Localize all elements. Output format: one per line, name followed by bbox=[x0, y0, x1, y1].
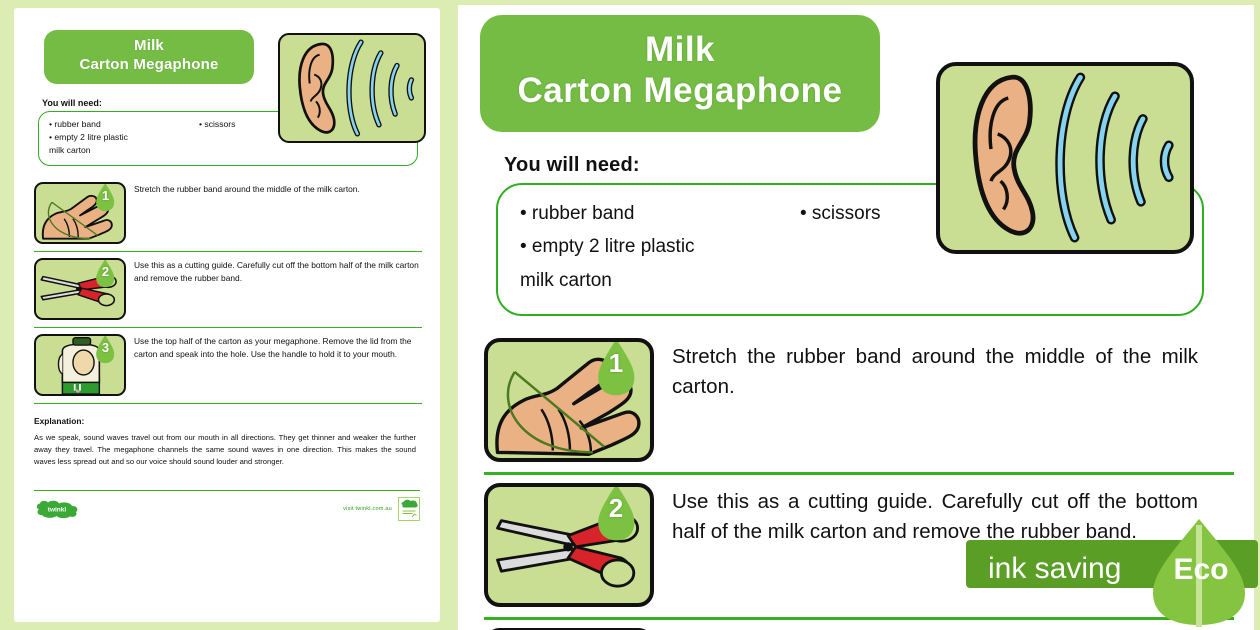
step-number-badge: 1 bbox=[92, 182, 118, 212]
step-number-badge: 1 bbox=[592, 338, 641, 398]
milk-carton-icon: 3 bbox=[34, 334, 126, 396]
list-item: • rubber band bbox=[520, 197, 800, 231]
explanation-heading: Explanation: bbox=[34, 416, 426, 426]
screenshot-root: Milk Carton Megaphone You will need: • r… bbox=[0, 0, 1260, 630]
twinkl-logo[interactable]: twinkl bbox=[34, 499, 80, 519]
list-item: • empty 2 litre plastic bbox=[520, 230, 800, 264]
step-number-label: 2 bbox=[92, 258, 118, 288]
list-item: • rubber band bbox=[49, 118, 199, 131]
thumbnail-title-banner: Milk Carton Megaphone bbox=[44, 30, 254, 84]
page-title-line-1: Milk bbox=[490, 29, 870, 70]
step-text: Use this as a cutting guide. Carefully c… bbox=[134, 258, 422, 284]
eco-badge-word: Eco bbox=[1166, 553, 1236, 587]
page-title-line-2: Carton Megaphone bbox=[490, 70, 870, 111]
step-number-badge: 3 bbox=[92, 334, 118, 364]
hand-rubber-band-icon: 1 bbox=[484, 338, 654, 462]
thumbnail-preview-pane[interactable]: Milk Carton Megaphone You will need: • r… bbox=[0, 0, 450, 630]
ear-sound-waves-icon bbox=[278, 33, 426, 143]
step-number-label: 1 bbox=[592, 338, 641, 398]
thumbnail-page[interactable]: Milk Carton Megaphone You will need: • r… bbox=[14, 8, 440, 622]
step-number-label: 3 bbox=[92, 334, 118, 364]
footer-divider bbox=[34, 490, 420, 491]
list-item: 2 Use this as a cutting guide. Carefully… bbox=[34, 252, 422, 328]
eco-badge-label: ink saving bbox=[988, 552, 1121, 586]
scissors-icon: 2 bbox=[34, 258, 126, 320]
twinkl-logo-text: twinkl bbox=[48, 506, 67, 513]
visit-url-text[interactable]: visit twinkl.com.au bbox=[343, 506, 392, 512]
list-item: 1 Stretch the rubber band around the mid… bbox=[34, 176, 422, 252]
step-number-label: 2 bbox=[592, 483, 641, 543]
thumbnail-materials-column-2: • scissors bbox=[199, 118, 235, 131]
eco-ink-saving-badge[interactable]: ink saving Eco bbox=[966, 533, 1260, 595]
step-text: Use the top half of the carton as your m… bbox=[134, 334, 422, 360]
ear-sound-waves-icon bbox=[936, 62, 1194, 254]
list-item: 3 Use the top half of the carton as your… bbox=[484, 620, 1234, 630]
list-item: milk carton bbox=[520, 264, 800, 298]
thumbnail-steps-list: 1 Stretch the rubber band around the mid… bbox=[34, 176, 422, 404]
step-number-badge: 2 bbox=[592, 483, 641, 543]
thumbnail-title-line-1: Milk bbox=[50, 37, 248, 56]
list-item: 1 Stretch the rubber band around the mid… bbox=[484, 330, 1234, 475]
list-item: milk carton bbox=[49, 144, 199, 157]
scissors-icon: 2 bbox=[484, 483, 654, 607]
list-item: • scissors bbox=[199, 118, 235, 131]
materials-column-1: • rubber band bbox=[520, 197, 800, 231]
list-item: • scissors bbox=[800, 197, 881, 231]
document-preview-pane[interactable]: Milk Carton Megaphone You will need: • r… bbox=[450, 0, 1260, 630]
thumbnail-title-line-2: Carton Megaphone bbox=[50, 56, 248, 75]
page-title-banner: Milk Carton Megaphone bbox=[480, 15, 880, 132]
hand-rubber-band-icon: 1 bbox=[34, 182, 126, 244]
materials-column-2: • scissors bbox=[800, 197, 881, 231]
step-text: Stretch the rubber band around the middl… bbox=[672, 338, 1234, 401]
step-number-label: 1 bbox=[92, 182, 118, 212]
list-item: 3 Use the top half of the carton as your… bbox=[34, 328, 422, 404]
thumbnail-footer: twinkl visit twinkl.com.au bbox=[34, 497, 420, 521]
explanation-body: As we speak, sound waves travel out from… bbox=[34, 432, 416, 467]
twinkl-seal-icon bbox=[398, 497, 420, 521]
step-number-badge: 2 bbox=[92, 258, 118, 288]
thumbnail-materials-column-1: • rubber band bbox=[49, 118, 199, 131]
step-text: Stretch the rubber band around the middl… bbox=[134, 182, 360, 196]
list-item: • empty 2 litre plastic bbox=[49, 131, 199, 144]
